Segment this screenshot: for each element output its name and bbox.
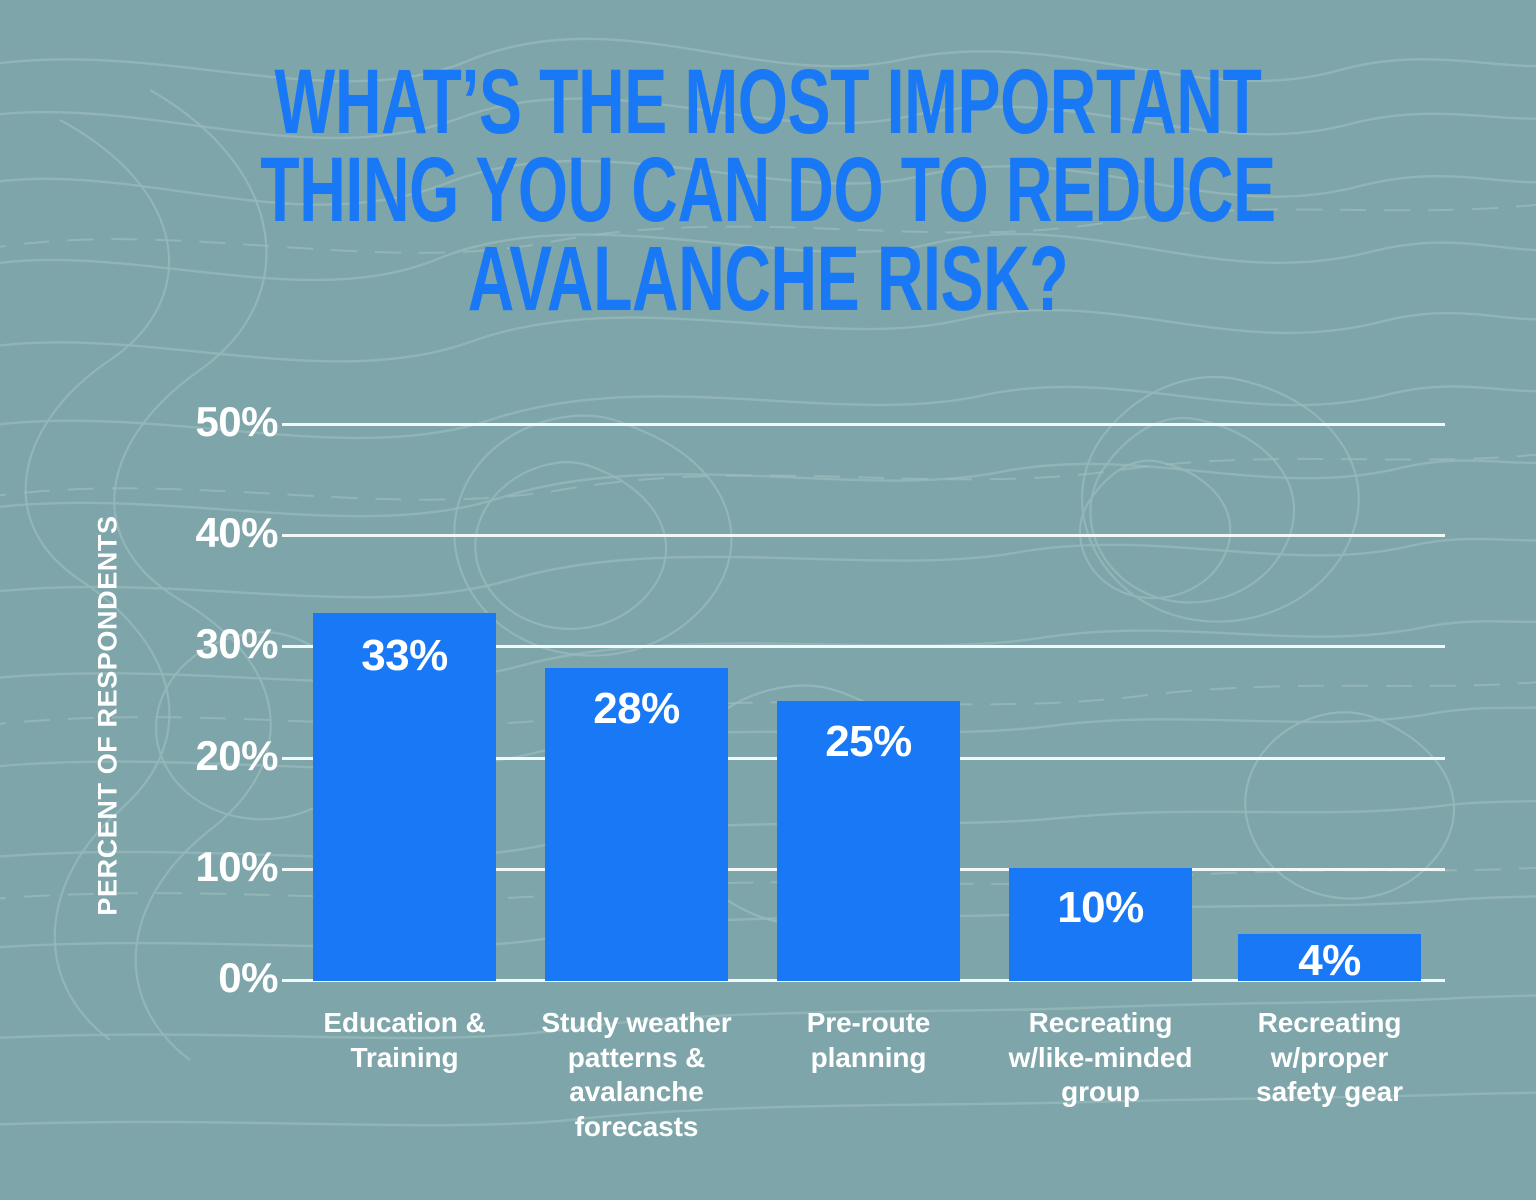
x-label-line: w/proper	[1218, 1041, 1441, 1076]
y-tick-label-40: 40%	[78, 512, 278, 554]
x-label-line: patterns &	[525, 1041, 748, 1076]
x-category-label-proper-safety-gear: Recreating w/proper safety gear	[1218, 1006, 1441, 1110]
infographic-canvas: WHAT’S THE MOST IMPORTANT THING YOU CAN …	[0, 0, 1536, 1200]
x-label-line: Pre-route	[757, 1006, 980, 1041]
x-label-line: forecasts	[525, 1110, 748, 1145]
y-tick-label-30: 30%	[78, 623, 278, 665]
bar-value-pre-route-planning: 25%	[777, 720, 960, 764]
gridline-40	[282, 534, 1445, 537]
bar-value-like-minded-group: 10%	[1009, 886, 1192, 930]
y-tick-label-0: 0%	[78, 957, 278, 999]
x-label-line: Study weather	[525, 1006, 748, 1041]
x-category-label-pre-route-planning: Pre-route planning	[757, 1006, 980, 1075]
x-category-label-like-minded-group: Recreating w/like-minded group	[981, 1006, 1220, 1110]
x-label-line: safety gear	[1218, 1075, 1441, 1110]
x-label-line: Recreating	[981, 1006, 1220, 1041]
x-category-label-education-training: Education & Training	[293, 1006, 516, 1075]
x-label-line: planning	[757, 1041, 980, 1076]
bar-value-proper-safety-gear: 4%	[1238, 939, 1421, 983]
y-tick-label-10: 10%	[78, 846, 278, 888]
x-label-line: w/like-minded	[981, 1041, 1220, 1076]
bar-value-education-training: 33%	[313, 634, 496, 678]
x-label-line: group	[981, 1075, 1220, 1110]
x-label-line: Education &	[293, 1006, 516, 1041]
x-label-line: Recreating	[1218, 1006, 1441, 1041]
gridline-50	[282, 423, 1445, 426]
y-tick-label-20: 20%	[78, 735, 278, 777]
bar-chart: PERCENT OF RESPONDENTS 50% 40% 30% 20% 1…	[0, 0, 1536, 1200]
bar-value-study-weather: 28%	[545, 687, 728, 731]
x-label-line: Training	[293, 1041, 516, 1076]
x-category-label-study-weather: Study weather patterns & avalanche forec…	[525, 1006, 748, 1145]
y-tick-label-50: 50%	[78, 401, 278, 443]
x-label-line: avalanche	[525, 1075, 748, 1110]
